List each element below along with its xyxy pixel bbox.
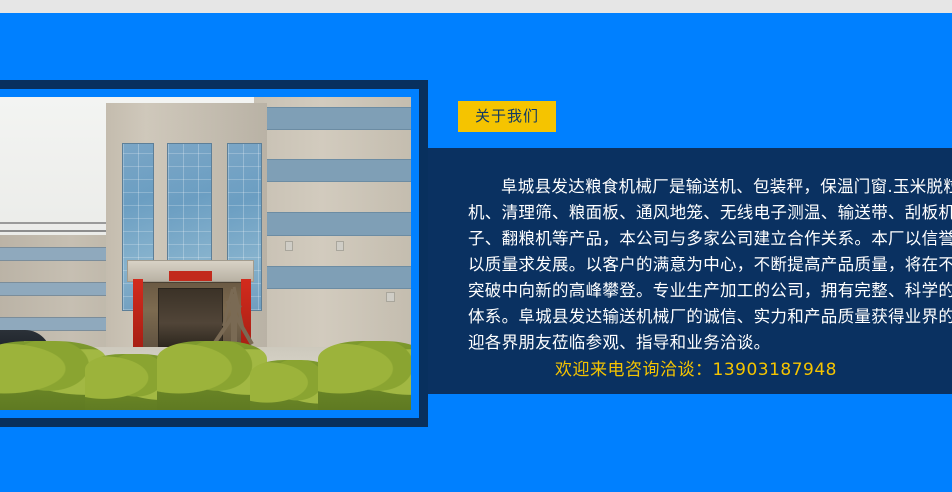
photo-frame [0, 80, 428, 427]
photo-hedge [318, 341, 411, 410]
photo-frame-inner [0, 89, 419, 418]
top-gray-strip [0, 0, 952, 13]
about-phone-line: 欢迎来电咨询洽谈：13903187948 [428, 355, 952, 380]
about-body-text: 阜城县发达粮食机械厂是输送机、包装秤，保温门窗.玉米脱粒机、扒谷机、清理筛、粮面… [468, 174, 952, 356]
photo-red-banner-left [133, 279, 143, 348]
about-phone-text: 欢迎来电咨询洽谈：13903187948 [555, 355, 857, 380]
about-info-panel: 阜城县发达粮食机械厂是输送机、包装秤，保温门窗.玉米脱粒机、扒谷机、清理筛、粮面… [428, 148, 952, 394]
photo-entrance-sign [169, 271, 211, 281]
photo-right-wing-building [254, 97, 411, 354]
about-us-section: 关于我们 阜城县发达粮食机械厂是输送机、包装秤，保温门窗.玉米脱粒机、扒谷机、清… [0, 0, 952, 492]
about-us-button[interactable]: 关于我们 [458, 101, 556, 132]
company-office-building-photo [0, 97, 411, 410]
